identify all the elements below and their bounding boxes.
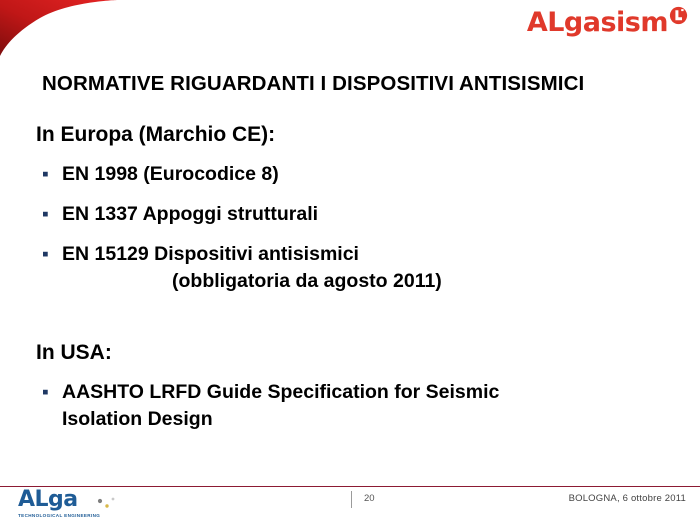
list-item-line-primary: AASHTO LRFD Guide Specification for Seis… xyxy=(62,379,499,406)
list-item-label: EN 15129 Dispositivi antisismici (obblig… xyxy=(62,241,442,295)
footer: ALga TECHNOLOGICAL ENGINEERING 20 BOLOGN… xyxy=(0,487,700,525)
list-item: ▪ EN 1998 (Eurocodice 8) xyxy=(36,161,666,188)
page-number: 20 xyxy=(364,493,375,504)
circular-seal-icon xyxy=(669,6,688,25)
list-item: ▪ EN 15129 Dispositivi antisismici (obbl… xyxy=(36,241,666,295)
footer-event-info: BOLOGNA, 6 ottobre 2011 xyxy=(569,493,686,504)
list-item-line-secondary: (obbligatoria da agosto 2011) xyxy=(62,268,442,295)
slide-body: In Europa (Marchio CE): ▪ EN 1998 (Euroc… xyxy=(36,122,666,446)
list-item: ▪ AASHTO LRFD Guide Specification for Se… xyxy=(36,379,666,433)
list-item: ▪ EN 1337 Appoggi strutturali xyxy=(36,201,666,228)
section-spacer xyxy=(36,308,666,340)
slide: ALgasism NORMATIVE RIGUARDANTI I DISPOSI… xyxy=(0,0,700,525)
bullet-marker-icon: ▪ xyxy=(36,379,62,406)
list-item-label: EN 1337 Appoggi strutturali xyxy=(62,201,318,228)
footer-separator xyxy=(351,491,352,508)
red-corner-swoosh-icon xyxy=(0,0,118,56)
footer-logo-tagline: TECHNOLOGICAL ENGINEERING xyxy=(18,513,130,518)
list-item-label: EN 1998 (Eurocodice 8) xyxy=(62,161,279,188)
list-item-line-secondary: Isolation Design xyxy=(62,406,499,433)
list-item-label: AASHTO LRFD Guide Specification for Seis… xyxy=(62,379,499,433)
bullet-marker-icon: ▪ xyxy=(36,241,62,268)
footer-dots-icon xyxy=(96,495,120,511)
bullet-marker-icon: ▪ xyxy=(36,201,62,228)
section-heading-usa: In USA: xyxy=(36,340,666,366)
page-title: NORMATIVE RIGUARDANTI I DISPOSITIVI ANTI… xyxy=(42,72,682,96)
section-heading-europe: In Europa (Marchio CE): xyxy=(36,122,666,148)
brand-wordmark: ALgasism xyxy=(527,8,668,38)
brand-logo: ALgasism xyxy=(527,8,688,42)
list-item-line-primary: EN 15129 Dispositivi antisismici xyxy=(62,241,442,268)
bullet-marker-icon: ▪ xyxy=(36,161,62,188)
